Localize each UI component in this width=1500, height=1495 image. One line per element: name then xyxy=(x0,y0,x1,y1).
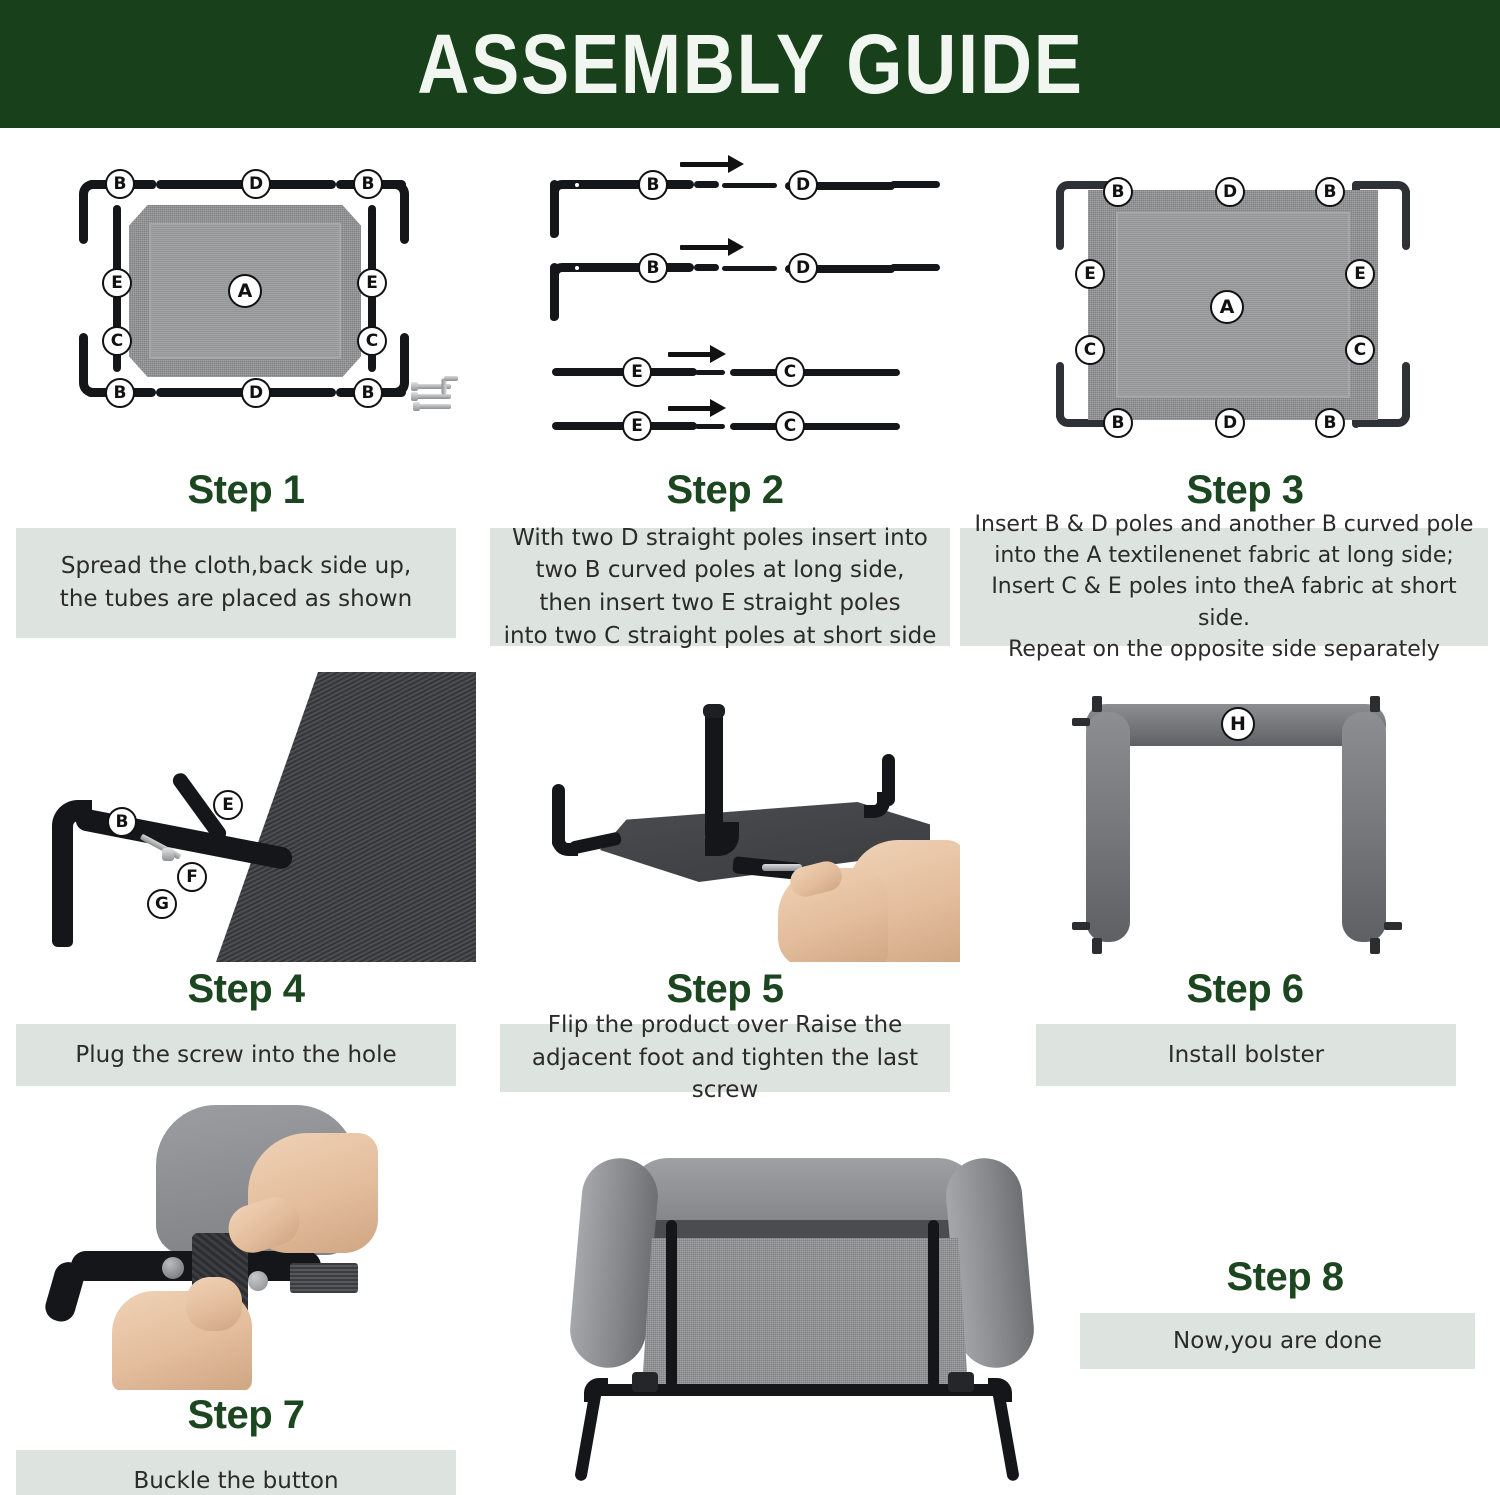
part-label-c: C xyxy=(102,326,132,356)
part-label-g: G xyxy=(147,889,177,919)
part-label-h: H xyxy=(1221,707,1255,741)
final-product-photo xyxy=(480,1140,1080,1495)
caption-line: Install bolster xyxy=(1168,1039,1324,1072)
caption-line: Insert B & D poles and another B curved … xyxy=(975,509,1474,540)
pole-segment xyxy=(730,369,900,376)
assembly-guide-page: ASSEMBLY GUIDE xyxy=(0,0,1500,1495)
part-label-d: D xyxy=(1215,408,1245,438)
fabric-mesh xyxy=(216,672,476,962)
foot-cap xyxy=(703,704,725,718)
step-3-diagram: B D B E E A C C B D B xyxy=(1020,150,1480,460)
caption-line: two B curved poles at long side, xyxy=(536,554,905,587)
step-2-diagram: B D B D E C xyxy=(490,150,960,460)
pole-leg xyxy=(400,333,409,383)
bolster-strap xyxy=(1370,938,1380,954)
pole-segment xyxy=(564,180,694,189)
bolster-back-shadow xyxy=(646,1220,964,1240)
pole-tip xyxy=(695,424,725,429)
bolster-strap xyxy=(1370,696,1380,712)
part-label-b: B xyxy=(105,378,135,408)
pole-segment xyxy=(564,263,694,272)
part-label-b: B xyxy=(1103,177,1133,207)
seat-mesh xyxy=(642,1238,968,1388)
strap-clip xyxy=(632,1372,658,1392)
insert-arrow-line xyxy=(680,162,730,167)
part-label-e: E xyxy=(357,268,387,298)
step-1-diagram: B D B E E A C C B D B xyxy=(16,150,476,460)
step-4-cell: B E F G Step 4 Plug the screw into the h… xyxy=(16,672,476,1092)
pole-leg xyxy=(400,194,409,244)
bolster-strap xyxy=(1092,696,1102,712)
part-label-b: B xyxy=(353,169,383,199)
bolster-strap xyxy=(1092,938,1102,954)
insert-arrow-head xyxy=(710,399,726,417)
insert-arrow-line xyxy=(668,352,712,357)
part-label-e: E xyxy=(213,790,243,820)
leg-back-left xyxy=(666,1220,677,1388)
pole-segment xyxy=(890,181,940,188)
pole-tip xyxy=(722,183,777,188)
step-3-title: Step 3 xyxy=(1000,468,1490,513)
caption-line: into two C straight poles at short side xyxy=(504,620,937,653)
pole-leg xyxy=(79,333,88,383)
part-label-a: A xyxy=(1210,290,1244,324)
step-1-cell: B D B E E A C C B D B Step 1 xyxy=(16,150,476,660)
leg-front-left xyxy=(574,1389,602,1482)
pole-leg xyxy=(79,194,88,244)
part-label-b: B xyxy=(638,253,668,283)
step-6-cell: H Step 6 Install bolster xyxy=(1000,672,1490,1092)
step-8-caption: Now,you are done xyxy=(1080,1313,1475,1369)
pole-segment xyxy=(694,181,719,188)
caption-line: Now,you are done xyxy=(1173,1325,1382,1358)
pole-segment xyxy=(694,264,719,271)
page-title: ASSEMBLY GUIDE xyxy=(417,16,1083,113)
step-3-caption: Insert B & D poles and another B curved … xyxy=(960,528,1488,646)
step-7-photo xyxy=(16,1105,476,1390)
strap-clip xyxy=(948,1372,974,1392)
part-label-d: D xyxy=(788,253,818,283)
caption-line: Insert C & E poles into theA fabric at s… xyxy=(970,571,1478,633)
frame-corner-left xyxy=(584,1378,608,1402)
part-label-c: C xyxy=(357,326,387,356)
step-1-caption: Spread the cloth,back side up, the tubes… xyxy=(16,528,456,638)
part-label-e: E xyxy=(1345,259,1375,289)
caption-line: Plug the screw into the hole xyxy=(75,1039,396,1072)
bolster-strap xyxy=(1384,922,1402,930)
part-label-c: C xyxy=(775,357,805,387)
part-label-b: B xyxy=(1315,408,1345,438)
caption-line: then insert two E straight poles xyxy=(539,587,900,620)
part-label-e: E xyxy=(622,411,652,441)
pole-b-leg xyxy=(52,832,73,947)
step-5-photo xyxy=(490,672,960,962)
caption-line: Buckle the button xyxy=(133,1465,338,1495)
step-7-title: Step 7 xyxy=(16,1393,476,1438)
step-3-cell: B D B E E A C C B D B Step 3 Insert B & … xyxy=(1000,150,1490,660)
step-2-caption: With two D straight poles insert into tw… xyxy=(490,528,950,646)
part-label-f: F xyxy=(177,862,207,892)
step-8-cell: Step 8 Now,you are done xyxy=(1080,1255,1490,1405)
caption-line: Flip the product over Raise the xyxy=(548,1009,903,1042)
step-6-title: Step 6 xyxy=(1000,967,1490,1012)
caption-line: Repeat on the opposite side separately xyxy=(1008,634,1440,665)
rivet xyxy=(162,1257,184,1279)
step-1-title: Step 1 xyxy=(16,468,476,513)
bolster-strap xyxy=(1072,922,1090,930)
bolster-right-arm xyxy=(1342,712,1386,942)
step-2-title: Step 2 xyxy=(490,468,960,513)
hardware-bundle xyxy=(411,370,471,420)
part-label-c: C xyxy=(1345,335,1375,365)
part-label-d: D xyxy=(788,170,818,200)
part-label-e: E xyxy=(622,357,652,387)
step-7-cell: Step 7 Buckle the button xyxy=(16,1105,476,1495)
frame-tube-bend xyxy=(42,1259,87,1325)
step-8-title: Step 8 xyxy=(1080,1255,1490,1300)
webbing xyxy=(290,1263,358,1293)
step-7-caption: Buckle the button xyxy=(16,1450,456,1495)
part-label-d: D xyxy=(241,169,271,199)
pole-segment xyxy=(730,423,900,430)
part-label-c: C xyxy=(1075,335,1105,365)
insert-arrow-head xyxy=(728,155,744,173)
part-label-a: A xyxy=(228,274,262,308)
insert-arrow-line xyxy=(680,245,730,250)
part-label-d: D xyxy=(241,378,271,408)
caption-line: the tubes are placed as shown xyxy=(60,583,412,616)
step-4-caption: Plug the screw into the hole xyxy=(16,1024,456,1086)
bolster-strap xyxy=(1072,718,1090,726)
part-label-b: B xyxy=(105,169,135,199)
part-label-b: B xyxy=(1103,408,1133,438)
step-6-caption: Install bolster xyxy=(1036,1024,1456,1086)
snap-button-socket xyxy=(248,1271,268,1291)
part-label-c: C xyxy=(775,411,805,441)
step-5-title: Step 5 xyxy=(490,967,960,1012)
part-label-e: E xyxy=(102,268,132,298)
caption-line: Spread the cloth,back side up, xyxy=(61,550,411,583)
pole-tip xyxy=(695,370,725,375)
screw-head xyxy=(162,848,174,861)
frame-corner-right xyxy=(988,1378,1012,1402)
caption-line: adjacent foot and tighten the last screw xyxy=(510,1042,940,1107)
pole-segment xyxy=(890,264,940,271)
step-4-photo: B E F G xyxy=(16,672,476,962)
caption-line: With two D straight poles insert into xyxy=(512,522,928,555)
pole-hole xyxy=(575,183,579,187)
pole-hole xyxy=(575,266,579,270)
step-5-cell: Step 5 Flip the product over Raise the a… xyxy=(490,672,960,1092)
finger-lower xyxy=(186,1277,242,1331)
part-label-b: B xyxy=(107,807,137,837)
part-label-b: B xyxy=(638,170,668,200)
part-label-b: B xyxy=(1315,177,1345,207)
part-label-e: E xyxy=(1075,259,1105,289)
step-5-caption: Flip the product over Raise the adjacent… xyxy=(500,1024,950,1092)
pole-tip xyxy=(722,266,777,271)
caption-line: into the A textilenenet fabric at long s… xyxy=(994,540,1454,571)
leg-front-right xyxy=(992,1389,1020,1482)
step-2-cell: B D B D E C xyxy=(490,150,960,660)
insert-arrow-line xyxy=(668,406,712,411)
part-label-d: D xyxy=(1215,177,1245,207)
part-label-b: B xyxy=(353,378,383,408)
step-6-photo: H xyxy=(1000,672,1490,962)
bolster-left-arm xyxy=(1086,712,1130,942)
step-4-title: Step 4 xyxy=(16,967,476,1012)
leg-back-right xyxy=(928,1220,939,1388)
insert-arrow-head xyxy=(710,345,726,363)
page-header: ASSEMBLY GUIDE xyxy=(0,0,1500,128)
insert-arrow-head xyxy=(728,238,744,256)
